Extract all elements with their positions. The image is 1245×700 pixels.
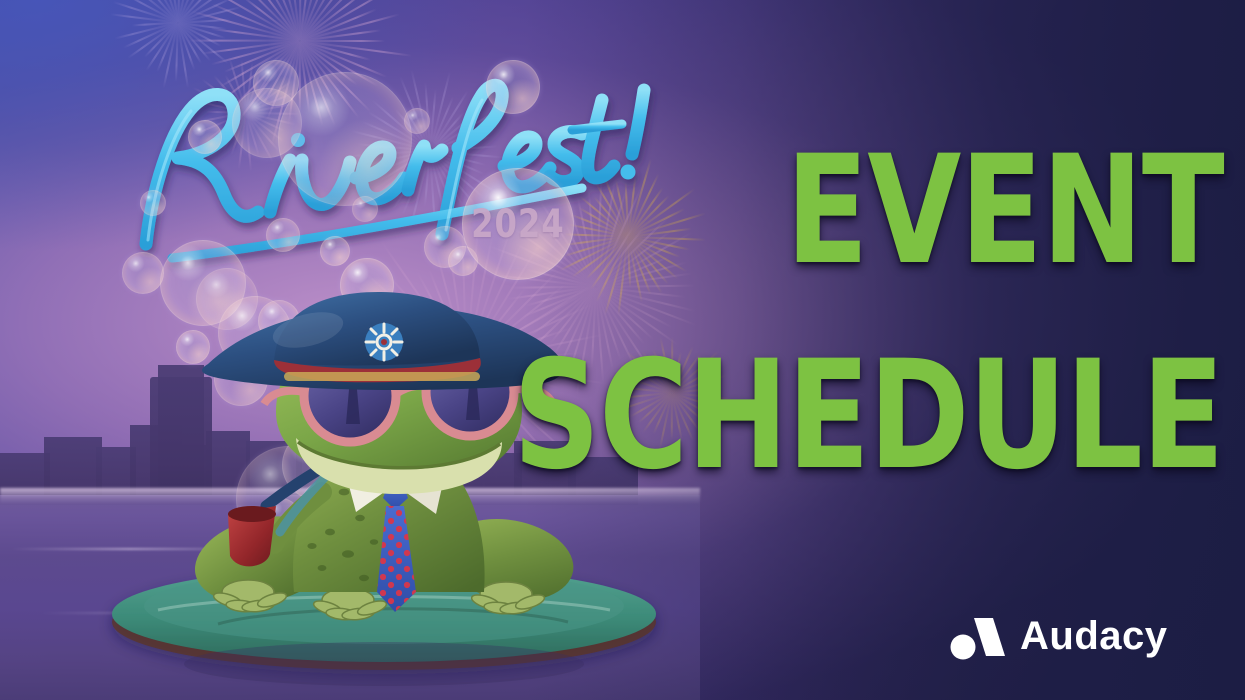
bubble [404, 108, 430, 134]
cowboy-hat [202, 292, 563, 390]
bubble [352, 196, 378, 222]
bubble-2024: 2024 [462, 168, 574, 280]
headline-line-2: SCHEDULE [513, 355, 1223, 478]
bubble [278, 72, 412, 206]
audacy-wordmark: Audacy [1020, 615, 1192, 659]
bubble [320, 236, 350, 266]
bubble [188, 120, 222, 154]
bubble [486, 60, 540, 114]
audacy-wordmark-text: Audacy [1020, 615, 1168, 658]
headline-line-1: EVENT [785, 150, 1223, 273]
hat-bead-band [284, 372, 480, 381]
riverfest-event-schedule-banner: 2024 [0, 0, 1245, 700]
bubble [140, 190, 166, 216]
wichita-flag-emblem [365, 323, 403, 361]
bubble [122, 252, 164, 294]
year-badge-label: 2024 [471, 202, 565, 247]
bubble [266, 218, 300, 252]
audacy-logo[interactable]: Audacy [948, 606, 1198, 668]
audacy-a-mark [948, 614, 1006, 660]
